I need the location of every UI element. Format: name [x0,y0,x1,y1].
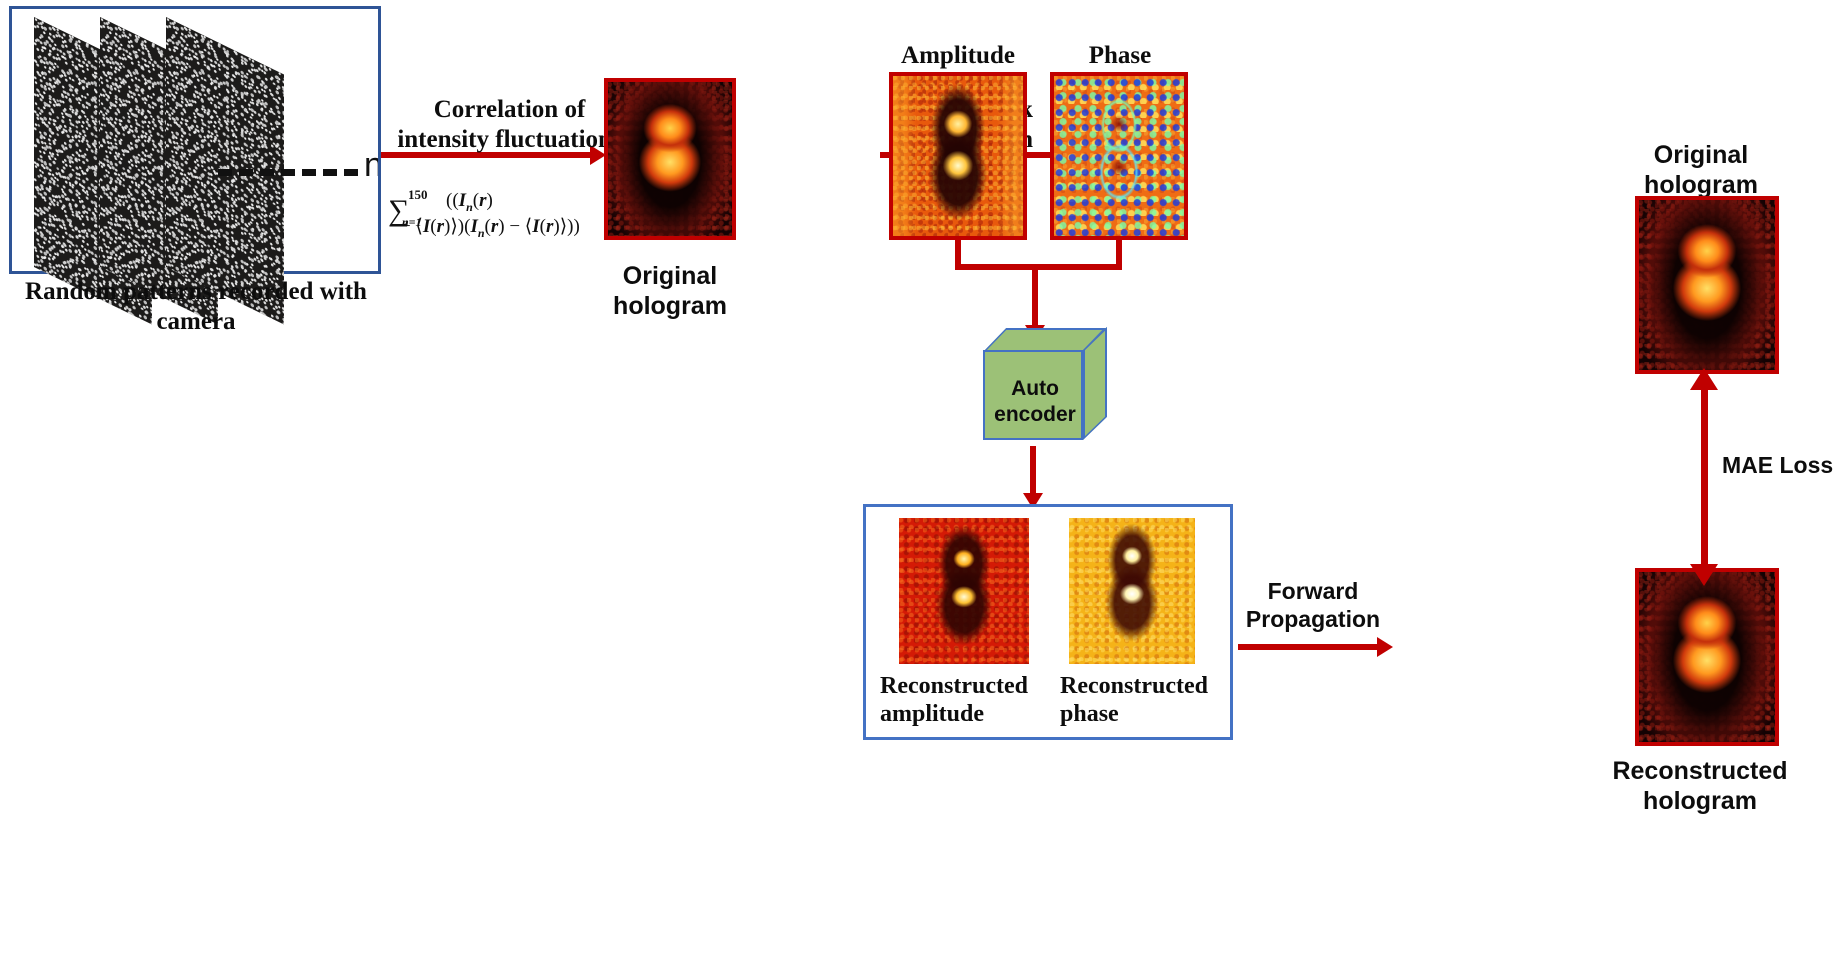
autoencoder-label: Auto encoder [989,376,1081,429]
sum-lower-limit: n=1 [402,216,422,229]
reconstructed-amplitude-line1: Reconstructed [880,672,1050,700]
correlation-label: Correlation of intensity fluctuations [382,95,637,155]
reconstructed-phase-line1: Reconstructed [1060,672,1220,700]
correlation-label-line1: Correlation of [382,95,637,125]
reconstructed-amplitude-caption: Reconstructed amplitude [880,672,1050,729]
reconstructed-hologram-line2: hologram [1600,786,1800,816]
reconstructed-hologram-caption: Reconstructed hologram [1600,756,1800,816]
right-original-hologram-image [1635,196,1779,374]
random-patterns-panel: n [9,6,381,274]
phase-label: Phase [1050,42,1190,70]
autoencoder-label-line1: Auto [989,376,1081,402]
right-original-hologram-line1: Original [1606,140,1796,170]
forward-propagation-arrow [1238,644,1378,650]
autoencoder-label-line2: encoder [989,402,1081,428]
original-hologram-caption-line1: Original [596,262,744,292]
reconstructed-phase-line2: phase [1060,700,1220,728]
original-hologram-caption-line2: hologram [596,292,744,322]
reconstructed-phase-image [1069,518,1195,664]
mae-loss-double-arrow [1701,388,1708,566]
sum-upper-limit: 150 [408,188,428,203]
reconstructed-hologram-line1: Reconstructed [1600,756,1800,786]
forward-propagation-label-line2: Propagation [1233,606,1393,634]
dashed-connector-line [218,169,358,176]
reconstructed-phase-caption: Reconstructed phase [1060,672,1220,729]
reconstructed-amplitude-line2: amplitude [880,700,1050,728]
right-original-hologram-caption: Original hologram [1606,140,1796,200]
amplitude-image [889,72,1027,240]
random-patterns-caption: Random patterns recorded with camera [10,277,382,336]
reconstructed-hologram-image [1635,568,1779,746]
forward-propagation-label-line1: Forward [1233,578,1393,606]
mae-loss-label: MAE Loss [1722,452,1833,479]
forward-propagation-label: Forward Propagation [1233,578,1393,633]
reconstructed-amplitude-image [899,518,1029,664]
correlation-label-line2: intensity fluctuations [382,125,637,155]
original-hologram-caption: Original hologram [596,262,744,321]
merge-connector-bar [955,264,1122,270]
correlation-formula: ∑ 150 n=1 ((In(r) − ⟨I(r)⟩)(In(r) − ⟨I(r… [388,190,628,240]
amplitude-label: Amplitude [888,42,1028,70]
panel-divider [378,6,381,274]
autoencoder-input-arrow [1032,264,1038,326]
original-hologram-image [604,78,736,240]
phase-image [1050,72,1188,240]
diagram-canvas: n Random patterns recorded with camera C… [0,0,1839,962]
autoencoder-output-arrow [1030,446,1036,494]
autoencoder-block: Auto encoder [983,328,1083,440]
